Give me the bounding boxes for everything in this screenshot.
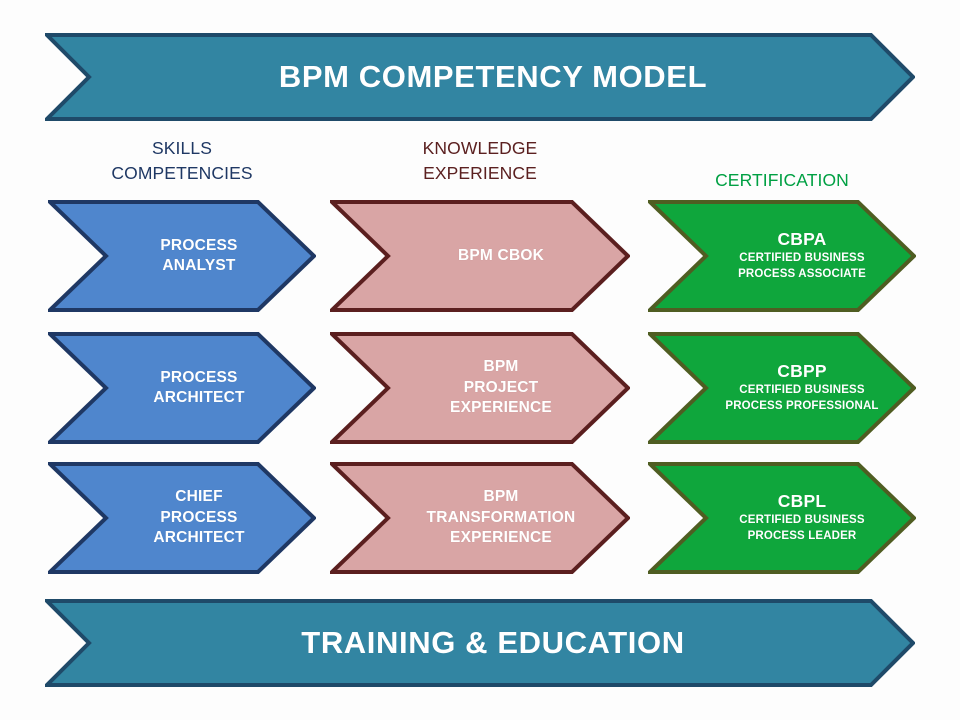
knowledge-chevron-row-2: BPM PROJECT EXPERIENCE [330,332,630,444]
knowledge-label: BPM TRANSFORMATION EXPERIENCE [385,487,576,548]
certification-code: CBPP [725,361,878,383]
knowledge-chevron-row-1: BPM CBOK [330,200,630,312]
skill-label: CHIEF PROCESS ARCHITECT [119,487,244,548]
skill-label: PROCESS ANALYST [126,236,237,277]
certification-name: CERTIFIED BUSINESS PROCESS PROFESSIONAL [725,383,878,415]
certification-code: CBPL [739,491,864,513]
skill-chevron-row-1: PROCESS ANALYST [48,200,316,312]
column-header-skills: SKILLS COMPETENCIES [48,136,316,186]
certification-chevron-row-3: CBPL CERTIFIED BUSINESS PROCESS LEADER [648,462,916,574]
certification-label: CBPL CERTIFIED BUSINESS PROCESS LEADER [699,491,864,545]
skill-chevron-row-2: PROCESS ARCHITECT [48,332,316,444]
certification-label: CBPA CERTIFIED BUSINESS PROCESS ASSOCIAT… [698,229,866,283]
certification-chevron-row-2: CBPP CERTIFIED BUSINESS PROCESS PROFESSI… [648,332,916,444]
knowledge-label: BPM CBOK [416,246,544,266]
footer-banner-label: TRAINING & EDUCATION [275,623,684,664]
column-header-certification: CERTIFICATION [648,168,916,193]
certification-name: CERTIFIED BUSINESS PROCESS LEADER [739,513,864,545]
certification-name: CERTIFIED BUSINESS PROCESS ASSOCIATE [738,251,866,283]
certification-chevron-row-1: CBPA CERTIFIED BUSINESS PROCESS ASSOCIAT… [648,200,916,312]
skill-label: PROCESS ARCHITECT [119,368,244,409]
footer-banner-chevron: TRAINING & EDUCATION [45,599,915,687]
title-banner-label: BPM COMPETENCY MODEL [253,57,707,98]
diagram-canvas: BPM COMPETENCY MODEL SKILLS COMPETENCIES… [0,0,960,720]
knowledge-chevron-row-3: BPM TRANSFORMATION EXPERIENCE [330,462,630,574]
column-header-knowledge: KNOWLEDGE EXPERIENCE [330,136,630,186]
title-banner-chevron: BPM COMPETENCY MODEL [45,33,915,121]
certification-label: CBPP CERTIFIED BUSINESS PROCESS PROFESSI… [685,361,878,415]
certification-code: CBPA [738,229,866,251]
knowledge-label: BPM PROJECT EXPERIENCE [408,357,552,418]
skill-chevron-row-3: CHIEF PROCESS ARCHITECT [48,462,316,574]
